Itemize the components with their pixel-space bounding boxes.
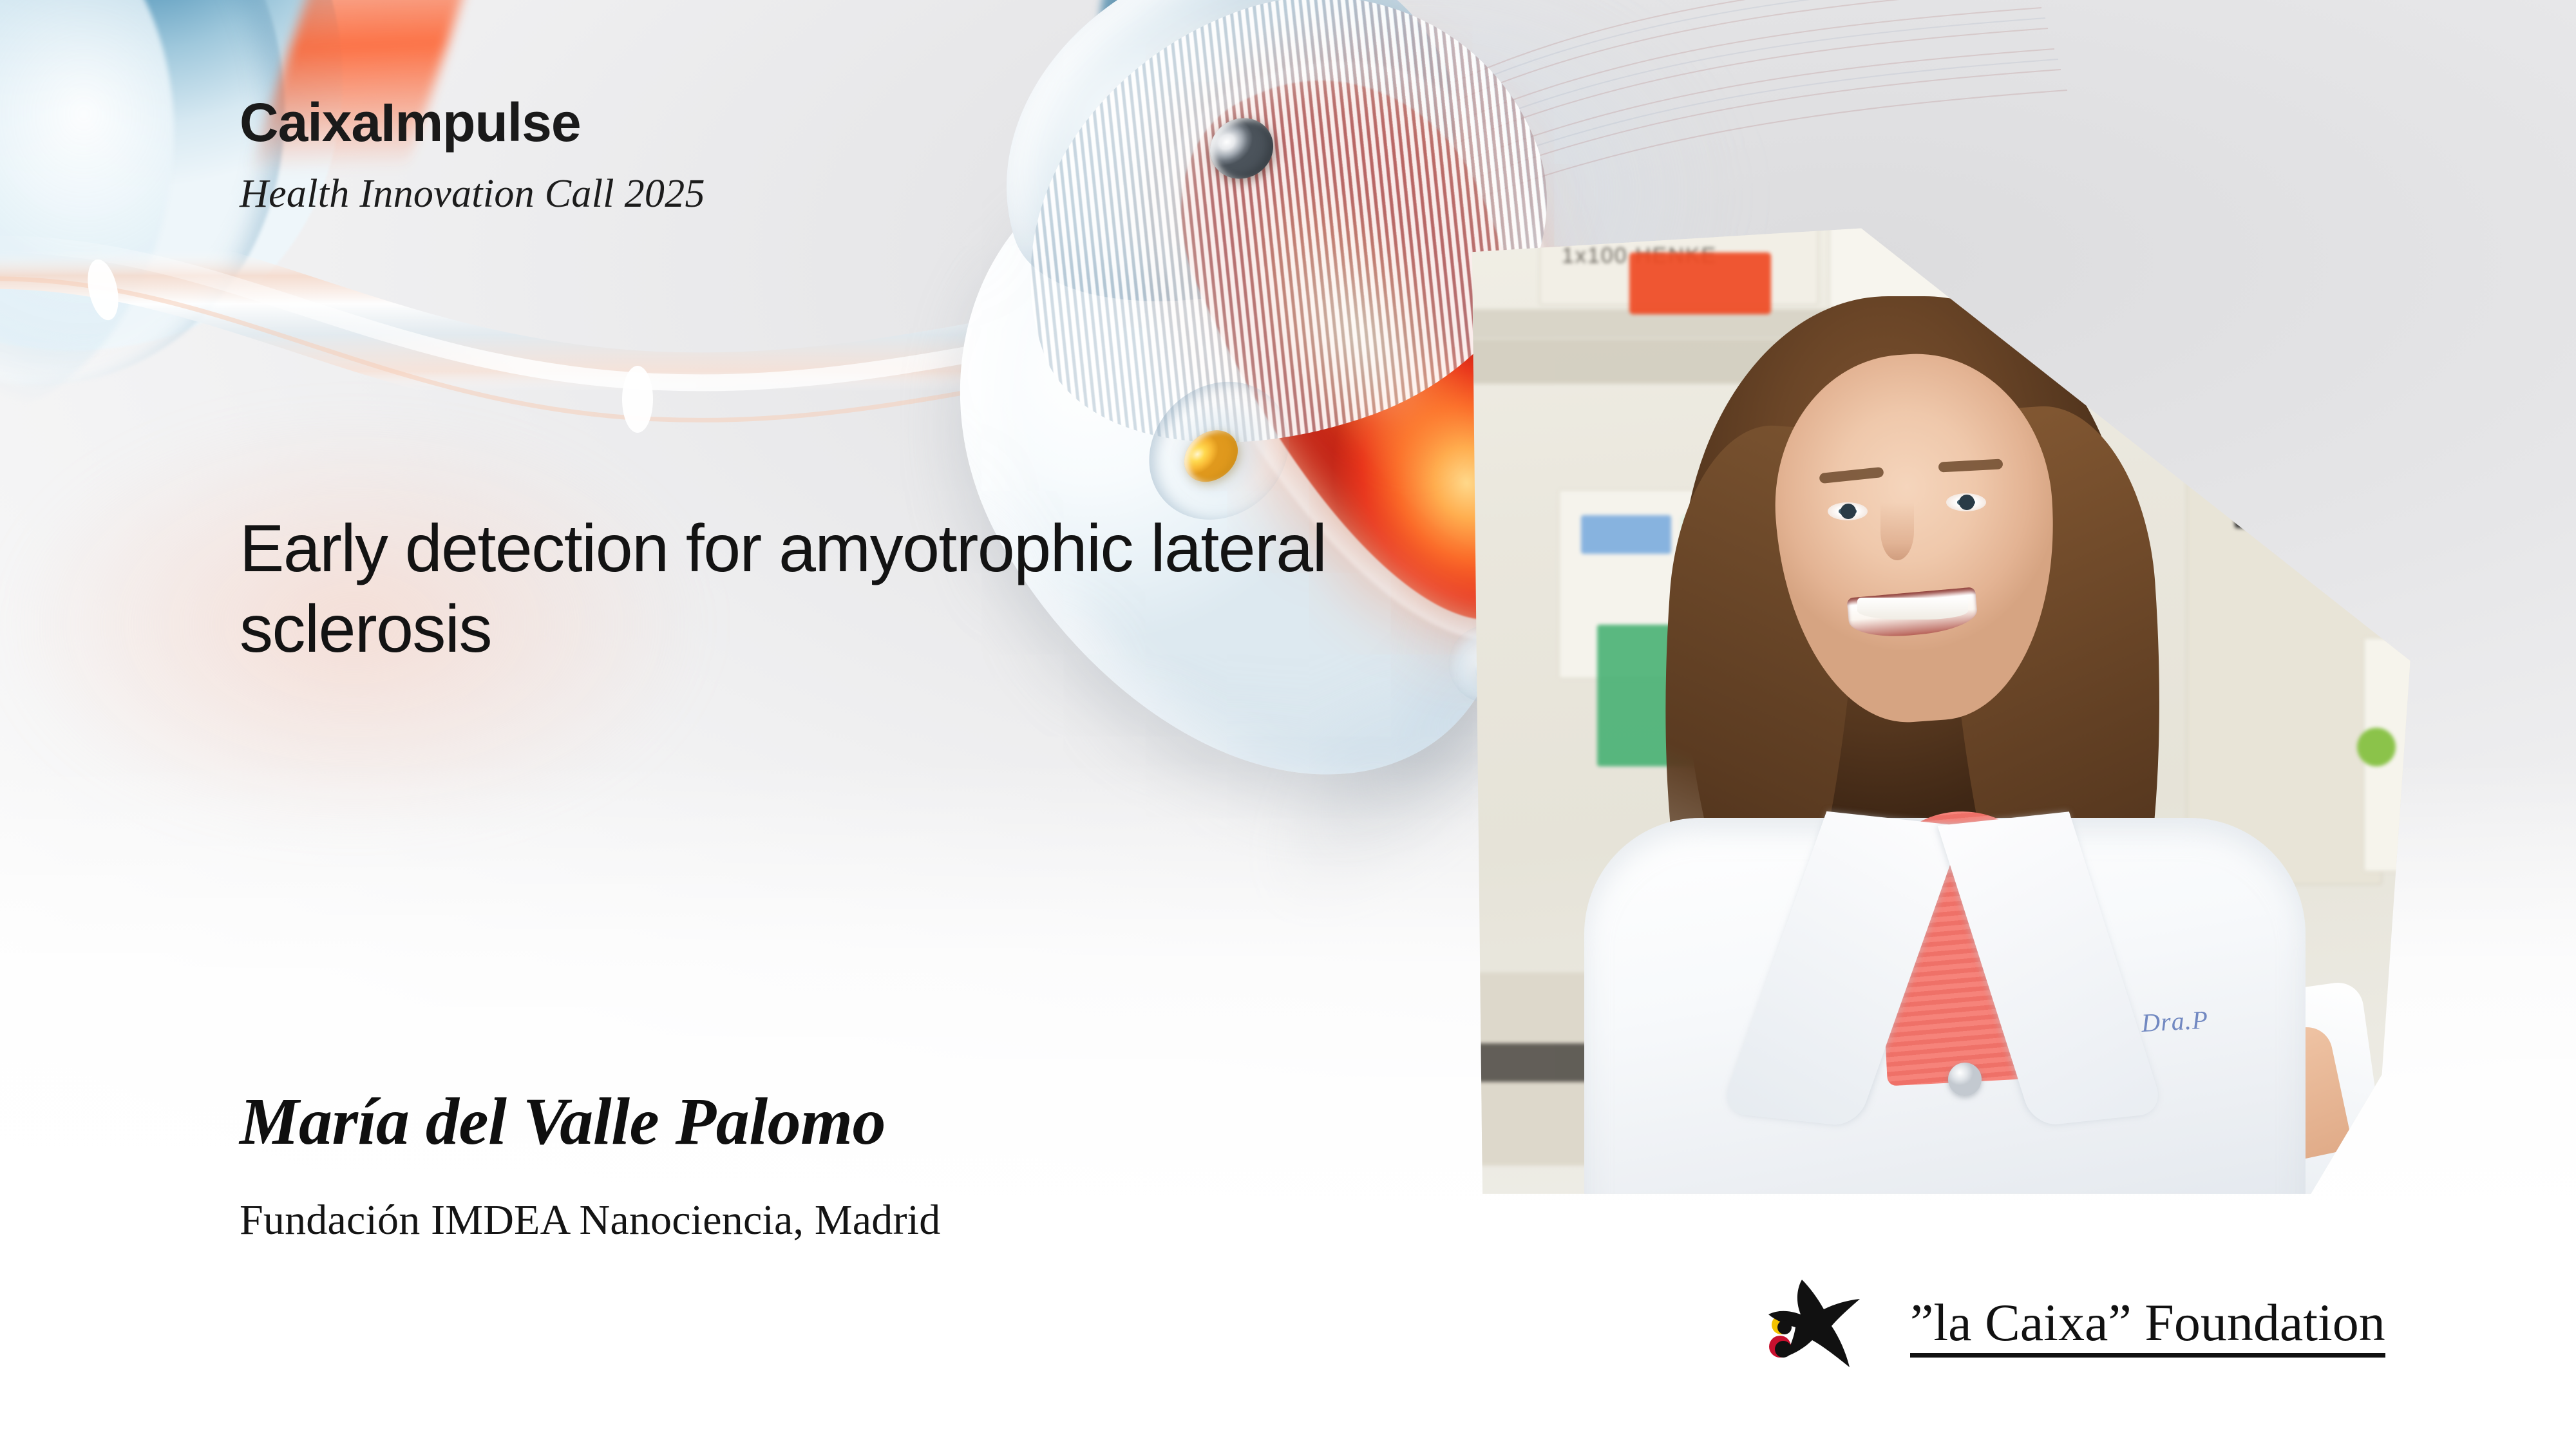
pupil-right <box>1959 495 1975 510</box>
nose <box>1880 502 1914 560</box>
program-brand-name: CaixaImpulse <box>240 95 581 149</box>
coat-button <box>1948 1063 1982 1096</box>
pupil-left <box>1841 504 1856 519</box>
teeth <box>1857 598 1968 620</box>
researcher-name: María del Valle Palomo <box>240 1088 885 1155</box>
lab-green-dot <box>2357 728 2396 766</box>
la-caixa-star-icon <box>1765 1278 1887 1375</box>
project-title: Early detection for amyotrophic lateral … <box>240 509 1463 670</box>
program-subtitle: Health Innovation Call 2025 <box>240 174 705 214</box>
logo-wordmark: ”la Caixa” Foundation <box>1910 1296 2385 1349</box>
logo-text-block: ”la Caixa” Foundation <box>1910 1296 2385 1358</box>
researcher-affiliation: Fundación IMDEA Nanociencia, Madrid <box>240 1199 940 1242</box>
la-caixa-foundation-logo: ”la Caixa” Foundation <box>1765 1278 2492 1375</box>
lab-fragile-icons <box>1581 515 1671 554</box>
lab-red-rack <box>1629 252 1771 314</box>
logo-underline <box>1910 1353 2385 1358</box>
slide-canvas: 1x100 HENKE 90 <box>0 0 2576 1449</box>
